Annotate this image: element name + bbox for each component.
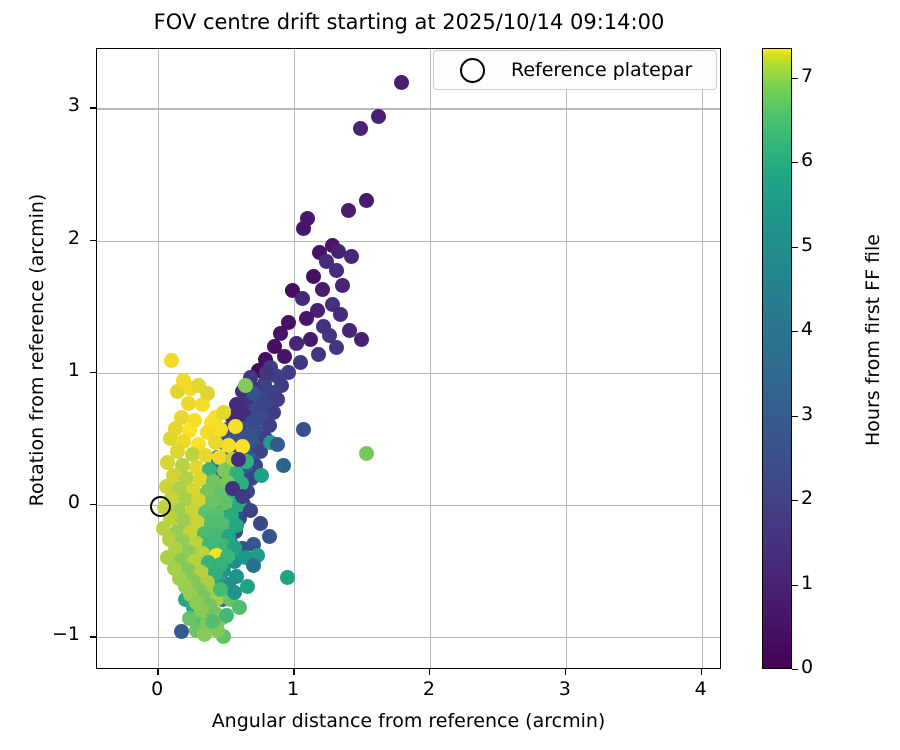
scatter-point bbox=[270, 437, 285, 452]
scatter-point bbox=[303, 332, 318, 347]
scatter-point bbox=[219, 608, 234, 623]
scatter-point bbox=[280, 570, 295, 585]
gridline-horizontal bbox=[97, 241, 720, 242]
colorbar-tick bbox=[792, 416, 798, 417]
scatter-point bbox=[335, 278, 350, 293]
legend[interactable]: Reference platepar bbox=[433, 50, 717, 90]
scatter-point bbox=[333, 307, 348, 322]
scatter-point bbox=[254, 468, 269, 483]
scatter-point bbox=[232, 600, 247, 615]
scatter-point bbox=[253, 516, 268, 531]
scatter-point bbox=[277, 349, 292, 364]
scatter-point bbox=[295, 291, 310, 306]
y-axis-label: Rotation from reference (arcmin) bbox=[26, 100, 48, 600]
x-tick bbox=[701, 669, 703, 675]
scatter-point bbox=[394, 75, 409, 90]
scatter-point bbox=[359, 446, 374, 461]
colorbar-tick-label: 7 bbox=[801, 65, 813, 87]
y-tick bbox=[90, 107, 96, 109]
colorbar-label: Hours from first FF file bbox=[862, 40, 884, 640]
scatter-point bbox=[344, 249, 359, 264]
x-tick-label: 2 bbox=[399, 678, 459, 700]
colorbar-tick-label: 6 bbox=[801, 149, 813, 171]
x-axis-label: Angular distance from reference (arcmin) bbox=[96, 710, 721, 732]
x-tick-label: 0 bbox=[127, 678, 187, 700]
scatter-point bbox=[315, 282, 330, 297]
scatter-point bbox=[306, 269, 321, 284]
scatter-point bbox=[359, 193, 374, 208]
scatter-point bbox=[213, 582, 228, 597]
scatter-point bbox=[289, 336, 304, 351]
x-tick bbox=[565, 669, 567, 675]
y-tick-label: −1 bbox=[0, 623, 80, 645]
x-tick bbox=[157, 669, 159, 675]
scatter-point bbox=[262, 529, 277, 544]
scatter-point bbox=[216, 405, 231, 420]
gridline-vertical bbox=[158, 49, 159, 668]
colorbar-tick-label: 5 bbox=[801, 234, 813, 256]
scatter-point bbox=[238, 378, 253, 393]
scatter-point bbox=[293, 355, 308, 370]
scatter-point bbox=[240, 579, 255, 594]
scatter-point bbox=[329, 340, 344, 355]
y-tick bbox=[90, 240, 96, 242]
scatter-plot-area bbox=[97, 49, 720, 668]
scatter-point bbox=[371, 109, 386, 124]
scatter-point bbox=[354, 332, 369, 347]
scatter-point bbox=[205, 614, 220, 629]
colorbar-tick bbox=[792, 669, 798, 670]
reference-platepar-marker-icon bbox=[460, 58, 485, 83]
scatter-point bbox=[243, 503, 258, 518]
colorbar-tick-label: 4 bbox=[801, 318, 813, 340]
scatter-point bbox=[341, 203, 356, 218]
scatter-point bbox=[164, 353, 179, 368]
scatter-point bbox=[353, 121, 368, 136]
scatter-point bbox=[299, 311, 314, 326]
gridline-horizontal bbox=[97, 373, 720, 374]
gridline-vertical bbox=[430, 49, 431, 668]
colorbar-tick-label: 1 bbox=[801, 572, 813, 594]
y-tick bbox=[90, 504, 96, 506]
colorbar-tick-label: 0 bbox=[801, 656, 813, 678]
scatter-point bbox=[246, 558, 261, 573]
scatter-point bbox=[296, 422, 311, 437]
scatter-point bbox=[182, 611, 197, 626]
figure: FOV centre drift starting at 2025/10/14 … bbox=[0, 0, 900, 750]
gridline-horizontal bbox=[97, 108, 720, 109]
scatter-point bbox=[200, 386, 215, 401]
scatter-point bbox=[174, 624, 189, 639]
scatter-point bbox=[181, 396, 196, 411]
x-tick bbox=[429, 669, 431, 675]
plot-axes bbox=[96, 48, 721, 669]
chart-title: FOV centre drift starting at 2025/10/14 … bbox=[0, 10, 818, 34]
scatter-point bbox=[276, 458, 291, 473]
scatter-point bbox=[296, 221, 311, 236]
y-tick bbox=[90, 636, 96, 638]
legend-item-label: Reference platepar bbox=[511, 59, 692, 81]
x-tick-label: 3 bbox=[535, 678, 595, 700]
y-tick bbox=[90, 372, 96, 374]
colorbar-tick-label: 3 bbox=[801, 403, 813, 425]
scatter-point bbox=[329, 263, 344, 278]
gridline-vertical bbox=[566, 49, 567, 668]
x-tick bbox=[293, 669, 295, 675]
colorbar-tick-label: 2 bbox=[801, 487, 813, 509]
x-tick-label: 1 bbox=[263, 678, 323, 700]
scatter-point bbox=[311, 347, 326, 362]
colorbar-tick bbox=[792, 162, 798, 163]
colorbar-tick bbox=[792, 585, 798, 586]
colorbar bbox=[762, 48, 792, 669]
colorbar-tick bbox=[792, 331, 798, 332]
gridline-horizontal bbox=[97, 637, 720, 638]
colorbar-tick bbox=[792, 247, 798, 248]
colorbar-tick bbox=[792, 78, 798, 79]
reference-platepar-point bbox=[150, 496, 171, 517]
colorbar-tick bbox=[792, 500, 798, 501]
x-tick-label: 4 bbox=[671, 678, 731, 700]
gridline-vertical bbox=[702, 49, 703, 668]
scatter-point bbox=[197, 627, 212, 642]
